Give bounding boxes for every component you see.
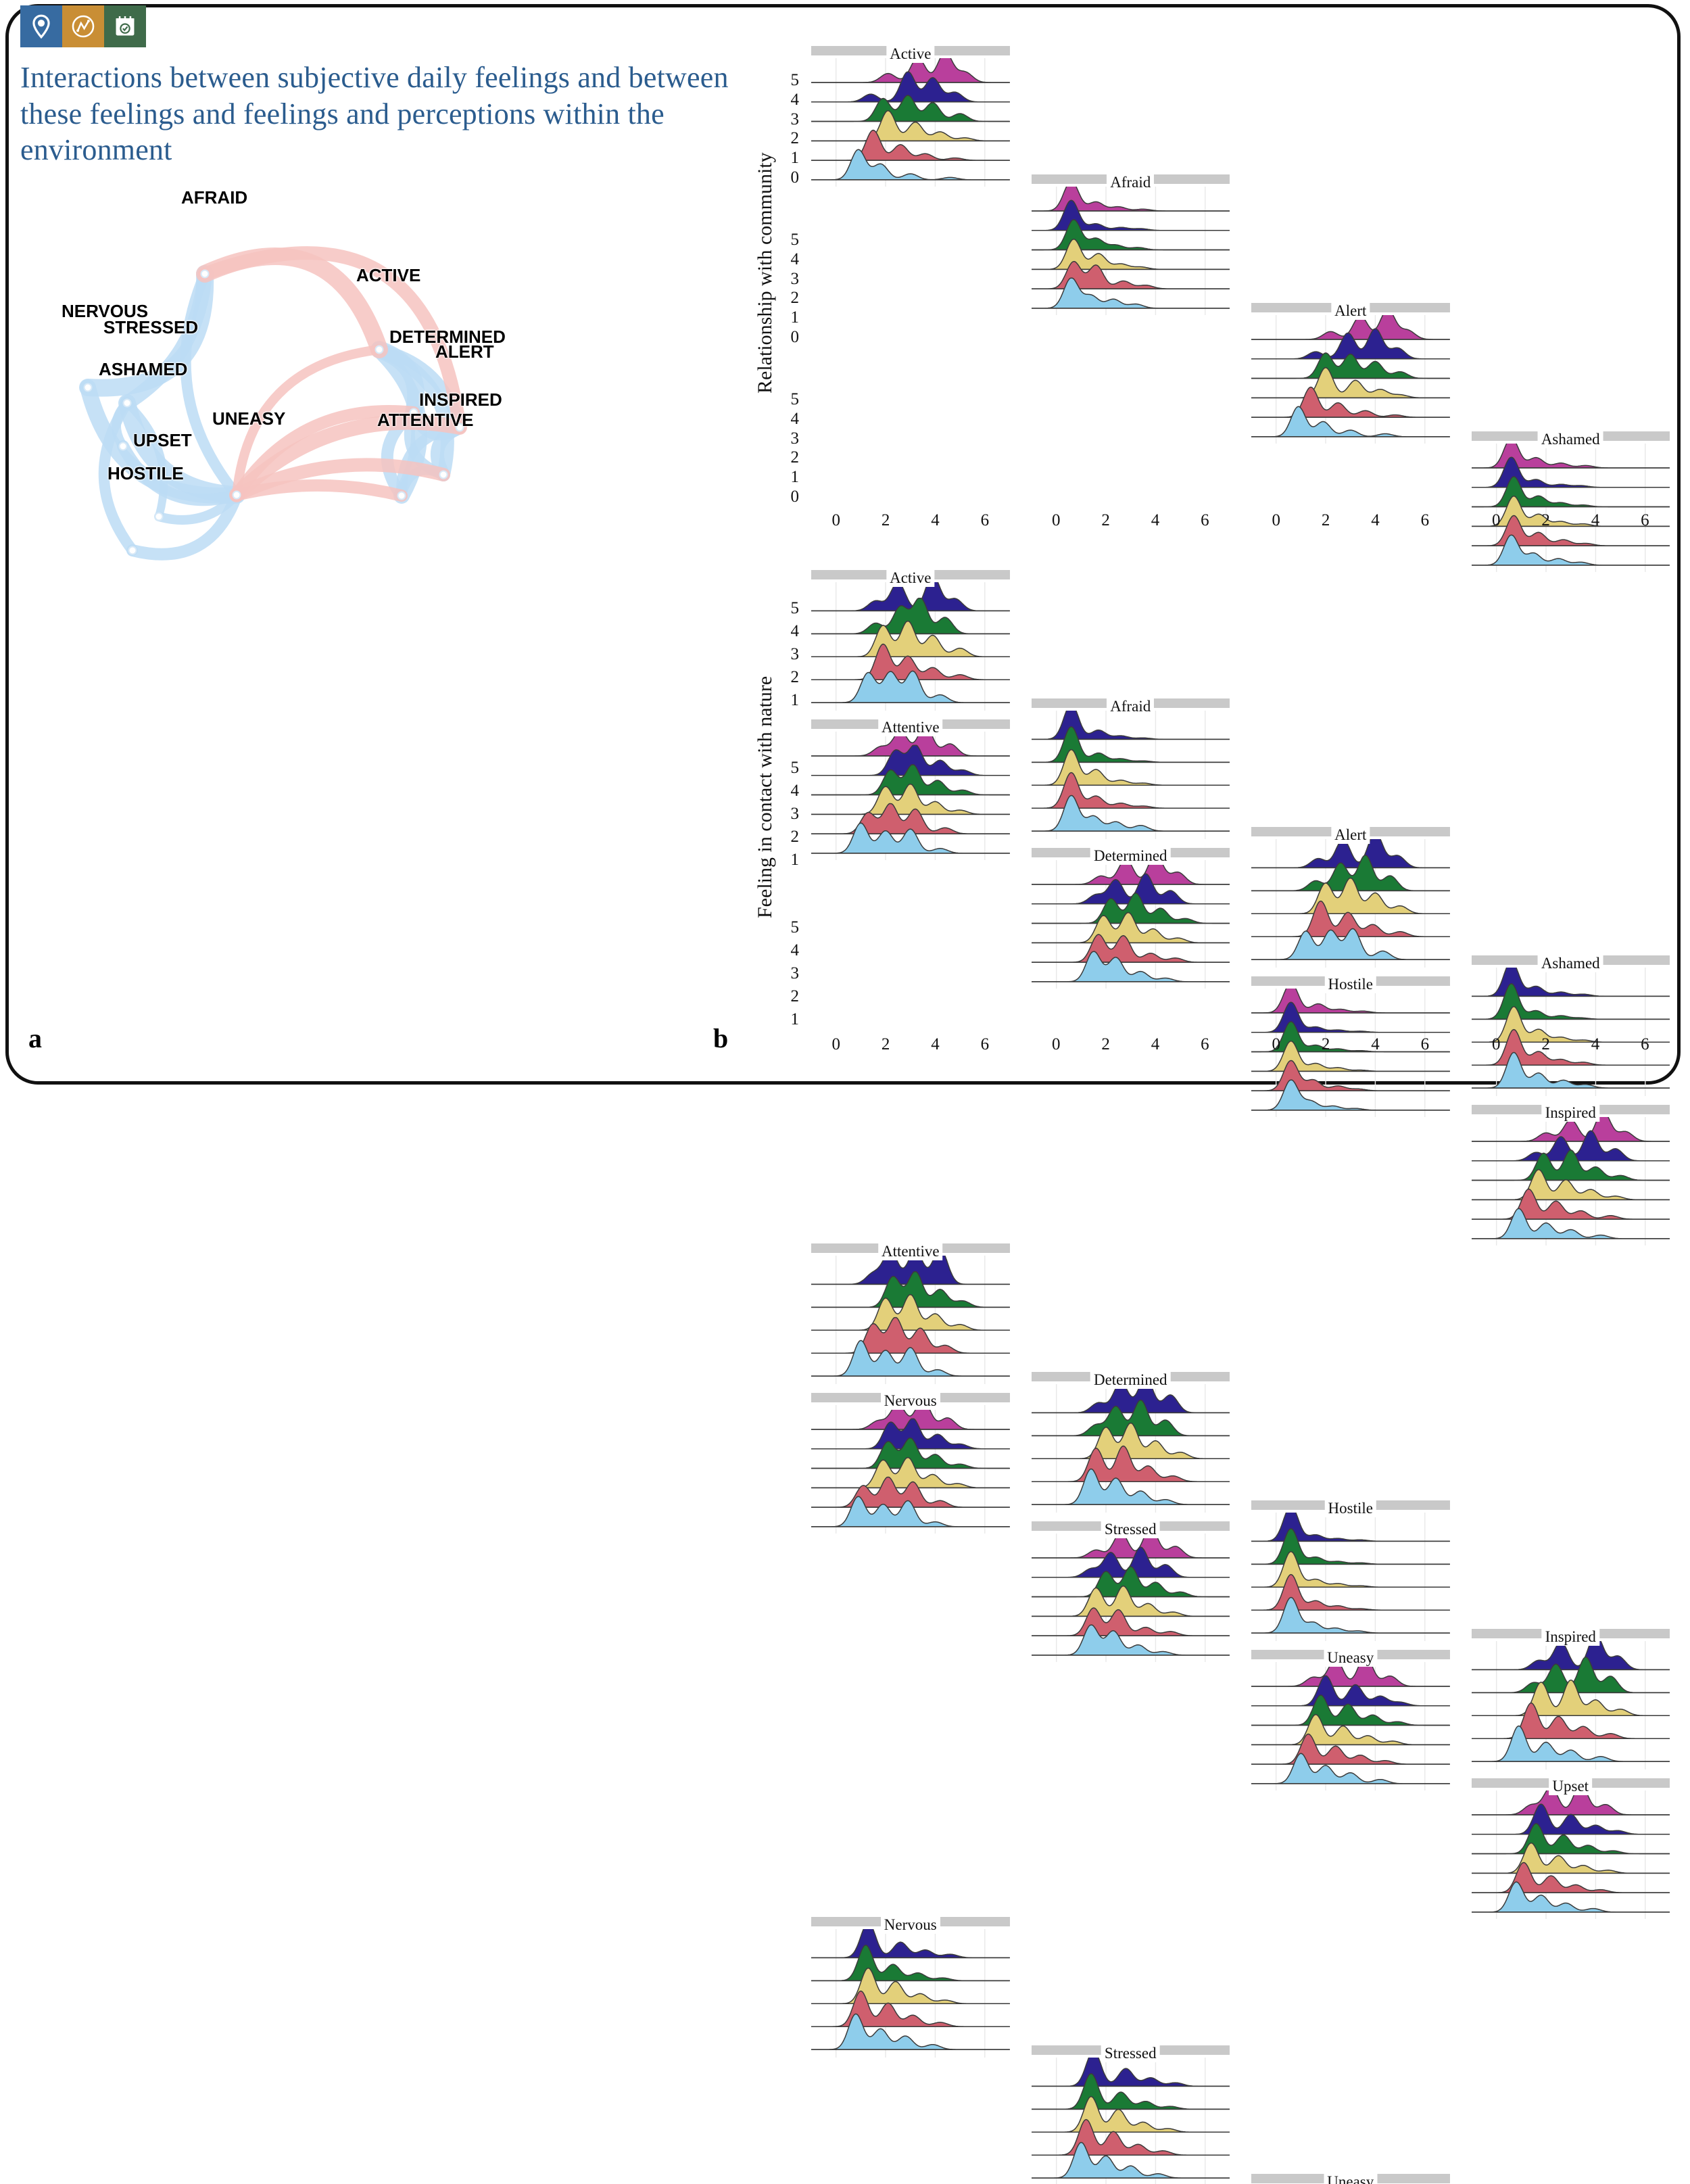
- x-tick-label: 2: [1311, 1035, 1341, 1054]
- facet-strip-label: Nervous: [881, 1916, 940, 1934]
- facet-strip-label: Ashamed: [1538, 431, 1603, 448]
- network-node-label-stressed[interactable]: STRESSED: [103, 317, 198, 338]
- facet-strip-label: Afraid: [1107, 174, 1154, 191]
- network-edges: [14, 223, 750, 1001]
- ridge-plot: [1251, 1513, 1450, 1641]
- y-tick-label: 1: [757, 308, 799, 327]
- y-tick-label: 3: [757, 270, 799, 289]
- ridge-plot: [1472, 1641, 1670, 1770]
- x-tick-label: 2: [1091, 1035, 1121, 1054]
- ridge-plot: [1251, 315, 1450, 444]
- ridge-density-level-3: [811, 621, 1010, 657]
- ridgeline-chart-relationship-with-community: Relationship with community543210ActiveA…: [757, 41, 1670, 541]
- y-tick-label: 5: [757, 918, 799, 937]
- x-tick-label: 4: [1140, 511, 1170, 530]
- facet-determined: Determined: [1032, 1384, 1230, 1513]
- y-tick-label: 3: [757, 429, 799, 448]
- ridge-plot: [1032, 187, 1230, 315]
- y-tick-label: 4: [757, 91, 799, 110]
- facet-strip-label: Stressed: [1101, 2045, 1160, 2062]
- x-tick-label: 0: [1261, 511, 1291, 530]
- ridge-plot: [1032, 2058, 1230, 2184]
- facet-ashamed: Ashamed: [1472, 968, 1670, 1096]
- y-tick-label: 3: [757, 964, 799, 983]
- y-tick-label: 2: [757, 828, 799, 847]
- ridgeline-chart-feeling-in-contact-with-nature: Feeling in contact with nature54321Activ…: [757, 565, 1670, 1065]
- x-tick-label: 2: [1091, 511, 1121, 530]
- facet-strip-label: Attentive: [878, 1243, 943, 1260]
- network-node[interactable]: [398, 492, 406, 500]
- ridge-density-level-3: [1032, 1567, 1230, 1597]
- x-tick-label: 2: [1531, 1035, 1561, 1054]
- facet-strip-label: Determined: [1090, 1371, 1171, 1389]
- network-node-label-upset[interactable]: UPSET: [133, 430, 192, 451]
- network-node-label-active[interactable]: ACTIVE: [356, 265, 420, 286]
- y-tick-label: 4: [757, 782, 799, 801]
- ridge-density-level-3: [1472, 1150, 1670, 1181]
- ridge-density-level-1: [811, 671, 1010, 703]
- x-tick-label: 2: [871, 1035, 900, 1054]
- y-tick-label: 0: [757, 328, 799, 347]
- y-tick-label: 5: [757, 390, 799, 409]
- y-tick-label: 4: [757, 410, 799, 429]
- x-tick-label: 4: [1360, 511, 1390, 530]
- network-node[interactable]: [84, 384, 92, 391]
- x-tick-label: 0: [821, 511, 851, 530]
- network-diagram-panel-a: AFRAIDNERVOUSSTRESSEDASHAMEDUPSETHOSTILE…: [14, 223, 750, 1001]
- facet-hostile: Hostile: [1251, 1513, 1450, 1641]
- x-tick-label: 4: [1360, 1035, 1390, 1054]
- ridge-plot: [1032, 711, 1230, 839]
- ridge-density-level-0: [1251, 406, 1450, 437]
- y-tick-label: 5: [757, 759, 799, 778]
- network-node-label-afraid[interactable]: AFRAID: [181, 187, 247, 208]
- x-tick-label: 2: [871, 511, 900, 530]
- facet-active: Active: [811, 582, 1010, 711]
- x-tick-label: 6: [1190, 1035, 1220, 1054]
- facet-stressed: Stressed: [1032, 2058, 1230, 2184]
- location-pin-icon: [20, 5, 62, 47]
- y-tick-label: 0: [757, 168, 799, 187]
- x-tick-label: 4: [920, 1035, 950, 1054]
- y-tick-label: 2: [757, 987, 799, 1006]
- facet-strip-label: Inspired: [1542, 1104, 1599, 1122]
- facet-strip-label: Nervous: [881, 1392, 940, 1410]
- facet-nervous: Nervous: [811, 1405, 1010, 1534]
- network-node[interactable]: [155, 513, 163, 521]
- network-node[interactable]: [440, 471, 448, 479]
- y-tick-label: 1: [757, 149, 799, 168]
- x-tick-label: 6: [1410, 511, 1440, 530]
- ridge-plot: [1032, 1384, 1230, 1513]
- ridge-plot: [1472, 1117, 1670, 1245]
- x-tick-label: 0: [1261, 1035, 1291, 1054]
- ridge-density-level-3: [811, 1295, 1010, 1331]
- figure-title: Interactions between subjective daily fe…: [20, 60, 737, 168]
- ridge-density-level-3: [811, 95, 1010, 122]
- network-node[interactable]: [124, 400, 131, 407]
- header-icon-bar: [20, 5, 146, 47]
- x-tick-label: 4: [1580, 511, 1610, 530]
- facet-strip-label: Inspired: [1542, 1628, 1599, 1646]
- x-tick-label: 0: [821, 1035, 851, 1054]
- x-tick-label: 2: [1311, 511, 1341, 530]
- facet-attentive: Attentive: [811, 1256, 1010, 1384]
- y-tick-label: 3: [757, 110, 799, 129]
- x-tick-label: 6: [970, 1035, 1000, 1054]
- facet-afraid: Afraid: [1032, 187, 1230, 315]
- x-tick-label: 6: [1630, 1035, 1660, 1054]
- y-tick-label: 1: [757, 691, 799, 710]
- network-node[interactable]: [120, 443, 127, 450]
- x-tick-label: 4: [1140, 1035, 1170, 1054]
- facet-alert: Alert: [1251, 839, 1450, 968]
- network-node-label-inspired[interactable]: INSPIRED: [419, 389, 502, 410]
- network-node-label-uneasy[interactable]: UNEASY: [212, 408, 285, 429]
- ridge-plot: [1251, 1662, 1450, 1790]
- y-tick-label: 1: [757, 1010, 799, 1029]
- ridge-plot: [1032, 1534, 1230, 1662]
- x-tick-label: 0: [1481, 1035, 1511, 1054]
- facet-strip-label: Uneasy: [1324, 2173, 1377, 2184]
- ridge-density-level-3: [1251, 353, 1450, 379]
- calendar-check-icon: [104, 5, 146, 47]
- facet-strip-label: Alert: [1331, 302, 1370, 320]
- y-tick-label: 1: [757, 851, 799, 870]
- x-tick-label: 6: [1190, 511, 1220, 530]
- facet-uneasy: Uneasy: [1251, 1662, 1450, 1790]
- y-tick-label: 4: [757, 941, 799, 960]
- trend-line-circle-icon: [62, 5, 104, 47]
- x-tick-label: 6: [1410, 1035, 1440, 1054]
- facet-ashamed: Ashamed: [1472, 444, 1670, 572]
- network-node[interactable]: [129, 547, 137, 554]
- y-tick-label: 5: [757, 231, 799, 250]
- facet-nervous: Nervous: [811, 1929, 1010, 2058]
- facet-strip-label: Active: [886, 569, 934, 587]
- x-tick-label: 4: [920, 511, 950, 530]
- network-node-label-ashamed[interactable]: ASHAMED: [99, 359, 187, 380]
- ridge-plot: [1472, 1790, 1670, 1919]
- facet-strip-label: Hostile: [1325, 1500, 1376, 1517]
- network-node-label-alert[interactable]: ALERT: [435, 341, 494, 362]
- y-tick-label: 2: [757, 289, 799, 308]
- y-tick-label: 3: [757, 805, 799, 824]
- y-tick-label: 2: [757, 668, 799, 687]
- network-node-label-hostile[interactable]: HOSTILE: [107, 463, 184, 484]
- facet-strip-label: Afraid: [1107, 698, 1154, 715]
- x-tick-label: 2: [1531, 511, 1561, 530]
- facet-active: Active: [811, 58, 1010, 187]
- panel-letter-b: b: [713, 1022, 728, 1054]
- network-edge: [237, 485, 402, 496]
- facet-strip-label: Active: [886, 45, 934, 63]
- y-tick-label: 1: [757, 468, 799, 487]
- x-tick-label: 4: [1580, 1035, 1610, 1054]
- network-node[interactable]: [233, 492, 241, 499]
- y-tick-label: 4: [757, 622, 799, 641]
- x-tick-label: 6: [970, 511, 1000, 530]
- y-tick-label: 5: [757, 599, 799, 618]
- ridge-density-level-3: [1472, 1680, 1670, 1716]
- ridge-density-level-3: [1251, 878, 1450, 914]
- facet-inspired: Inspired: [1472, 1117, 1670, 1245]
- y-tick-label: 2: [757, 129, 799, 148]
- network-node-label-attentive[interactable]: ATTENTIVE: [377, 410, 474, 431]
- y-tick-label: 3: [757, 645, 799, 664]
- ridge-density-level-3: [1032, 1423, 1230, 1459]
- y-tick-label: 4: [757, 250, 799, 269]
- facet-strip-label: Stressed: [1101, 1521, 1160, 1538]
- facet-inspired: Inspired: [1472, 1641, 1670, 1770]
- facet-afraid: Afraid: [1032, 711, 1230, 839]
- facet-strip-label: Alert: [1331, 826, 1370, 844]
- x-tick-label: 0: [1481, 511, 1511, 530]
- ridge-plot: [1472, 968, 1670, 1096]
- y-tick-label: 5: [757, 71, 799, 90]
- ridge-plot: [811, 58, 1010, 187]
- facet-stressed: Stressed: [1032, 1534, 1230, 1662]
- facet-strip-label: Upset: [1549, 1778, 1592, 1795]
- network-node[interactable]: [201, 270, 209, 278]
- ridge-plot: [1472, 444, 1670, 572]
- facet-strip-label: Uneasy: [1324, 1649, 1377, 1667]
- ridge-density-level-3: [811, 1968, 1010, 2004]
- panel-letter-a: a: [28, 1022, 42, 1054]
- x-tick-label: 0: [1041, 1035, 1071, 1054]
- facet-alert: Alert: [1251, 315, 1450, 444]
- ridge-plot: [1251, 839, 1450, 968]
- y-tick-label: 2: [757, 448, 799, 467]
- ridge-plot: [811, 1256, 1010, 1384]
- y-tick-label: 0: [757, 488, 799, 506]
- ridge-plot: [811, 1929, 1010, 2058]
- ridge-plot: [811, 582, 1010, 711]
- ridge-plot: [811, 1405, 1010, 1534]
- figure-root: Interactions between subjective daily fe…: [0, 0, 1690, 1092]
- facet-upset: Upset: [1472, 1790, 1670, 1919]
- x-tick-label: 0: [1041, 511, 1071, 530]
- facet-strip-label: Ashamed: [1538, 955, 1603, 972]
- ridge-density-level-1: [1251, 928, 1450, 959]
- network-node[interactable]: [376, 346, 383, 354]
- x-tick-label: 6: [1630, 511, 1660, 530]
